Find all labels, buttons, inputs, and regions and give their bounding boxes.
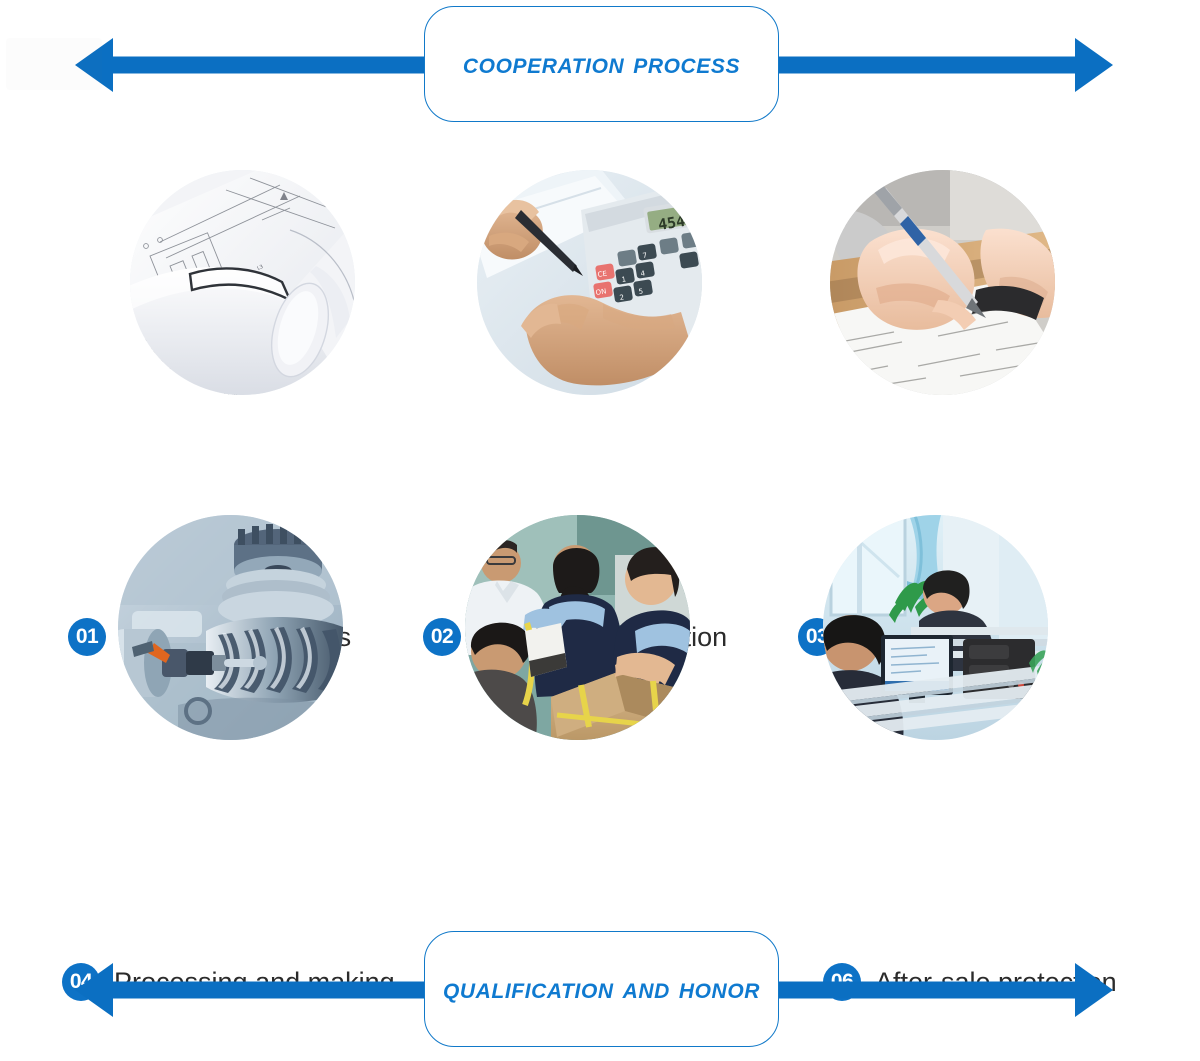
cooperation-process-banner: Cooperation process: [0, 0, 1200, 130]
svg-text:ON: ON: [595, 287, 607, 297]
hands-calculator-photo: 454: [477, 170, 702, 395]
office-workers-computers-photo: [823, 515, 1048, 740]
step-card-05[interactable]: 05 Packaging and delivery: [385, 515, 785, 860]
rolled-blueprints-photo: PE N L3 b1 60 W: [130, 170, 355, 395]
section-title: Qualification and honor: [443, 972, 760, 1006]
banner-title-box: Qualification and honor: [424, 931, 779, 1047]
cnc-machining-gear-photo: [118, 515, 343, 740]
step-card-01[interactable]: PE N L3 b1 60 W: [0, 170, 400, 515]
step-card-06[interactable]: 06 After-sale protection: [745, 515, 1145, 860]
banner-title-box: Cooperation process: [424, 6, 779, 122]
steps-row-1: PE N L3 b1 60 W: [0, 170, 1200, 515]
svg-text:CE: CE: [597, 270, 607, 279]
step-card-02[interactable]: 454: [385, 170, 785, 515]
arrow-head-right: [1075, 963, 1113, 1017]
page-title: Cooperation process: [463, 47, 740, 81]
arrow-head-left: [75, 963, 113, 1017]
step-card-04[interactable]: 04 Processing and making: [0, 515, 400, 860]
qualification-and-honor-banner: Qualification and honor: [0, 925, 1200, 1055]
cooperation-steps-grid: PE N L3 b1 60 W: [0, 170, 1200, 860]
steps-row-2: 04 Processing and making: [0, 515, 1200, 860]
hand-signing-document-photo: [830, 170, 1055, 395]
arrow-head-right: [1075, 38, 1113, 92]
workers-packing-box-photo: [465, 515, 690, 740]
step-card-03[interactable]: 03 Sign a contract: [745, 170, 1145, 515]
faint-watermark: [6, 38, 102, 90]
